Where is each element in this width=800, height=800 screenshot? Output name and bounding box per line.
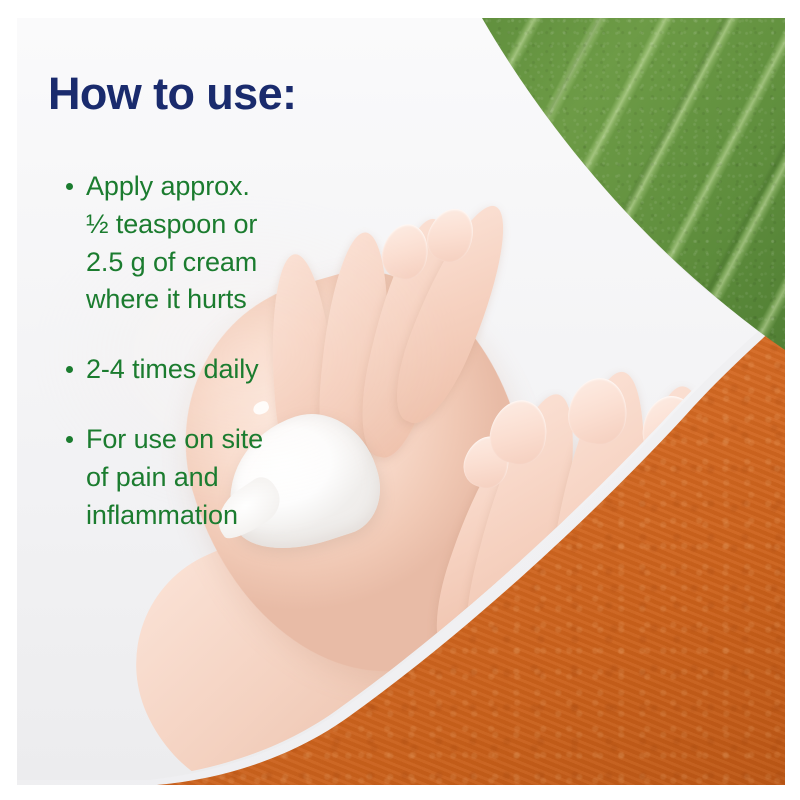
- frame-top: [0, 0, 800, 18]
- frame-left: [0, 0, 17, 800]
- how-to-use-card: How to use: Apply approx. ½ teaspoon or …: [17, 18, 785, 785]
- list-item-label: Apply approx. ½ teaspoon or 2.5 g of cre…: [86, 168, 348, 319]
- instruction-list: Apply approx. ½ teaspoon or 2.5 g of cre…: [48, 168, 348, 534]
- bullet-dot-icon: [66, 183, 73, 190]
- text-content: How to use: Apply approx. ½ teaspoon or …: [17, 18, 785, 785]
- list-item-label: 2-4 times daily: [86, 351, 348, 389]
- bullet-dot-icon: [66, 366, 73, 373]
- list-item: Apply approx. ½ teaspoon or 2.5 g of cre…: [48, 168, 348, 319]
- list-item: 2-4 times daily: [48, 351, 348, 389]
- frame-right: [785, 0, 800, 800]
- bullet-dot-icon: [66, 436, 73, 443]
- frame-bottom: [0, 785, 800, 800]
- list-item: For use on site of pain and inflammation: [48, 421, 348, 534]
- list-item-label: For use on site of pain and inflammation: [86, 421, 348, 534]
- page-title: How to use:: [48, 70, 296, 118]
